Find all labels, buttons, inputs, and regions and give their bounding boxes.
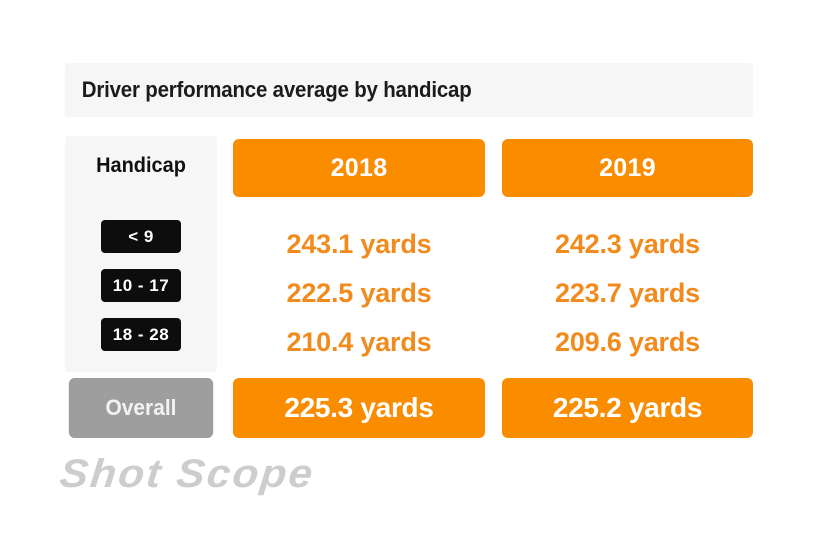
value-column-2019: 242.3 yards 223.7 yards 209.6 yards xyxy=(502,220,753,372)
value-cell: 209.6 yards xyxy=(502,318,753,367)
value-cell: 243.1 yards xyxy=(233,220,485,269)
handicap-badge: 18 - 28 xyxy=(101,318,181,351)
column-header-2019: 2019 xyxy=(502,139,753,197)
handicap-badge-stack: < 9 10 - 17 18 - 28 xyxy=(65,220,217,351)
value-column-2018: 243.1 yards 222.5 yards 210.4 yards xyxy=(233,220,485,372)
overall-value-2018: 225.3 yards xyxy=(233,378,485,438)
shot-scope-logo: Shot Scope xyxy=(58,452,317,497)
overall-row-label: Overall xyxy=(69,378,213,438)
overall-value-2019: 225.2 yards xyxy=(502,378,753,438)
chart-title-bar: Driver performance average by handicap xyxy=(65,63,753,117)
value-cell: 242.3 yards xyxy=(502,220,753,269)
handicap-column-panel: Handicap < 9 10 - 17 18 - 28 xyxy=(65,136,217,372)
column-header-2018: 2018 xyxy=(233,139,485,197)
value-cell: 210.4 yards xyxy=(233,318,485,367)
handicap-column-header: Handicap xyxy=(69,154,213,178)
value-cell: 223.7 yards xyxy=(502,269,753,318)
handicap-badge: 10 - 17 xyxy=(101,269,181,302)
page-title: Driver performance average by handicap xyxy=(65,77,472,103)
handicap-badge: < 9 xyxy=(101,220,181,253)
driver-performance-infographic: Driver performance average by handicap H… xyxy=(65,63,753,483)
value-cell: 222.5 yards xyxy=(233,269,485,318)
